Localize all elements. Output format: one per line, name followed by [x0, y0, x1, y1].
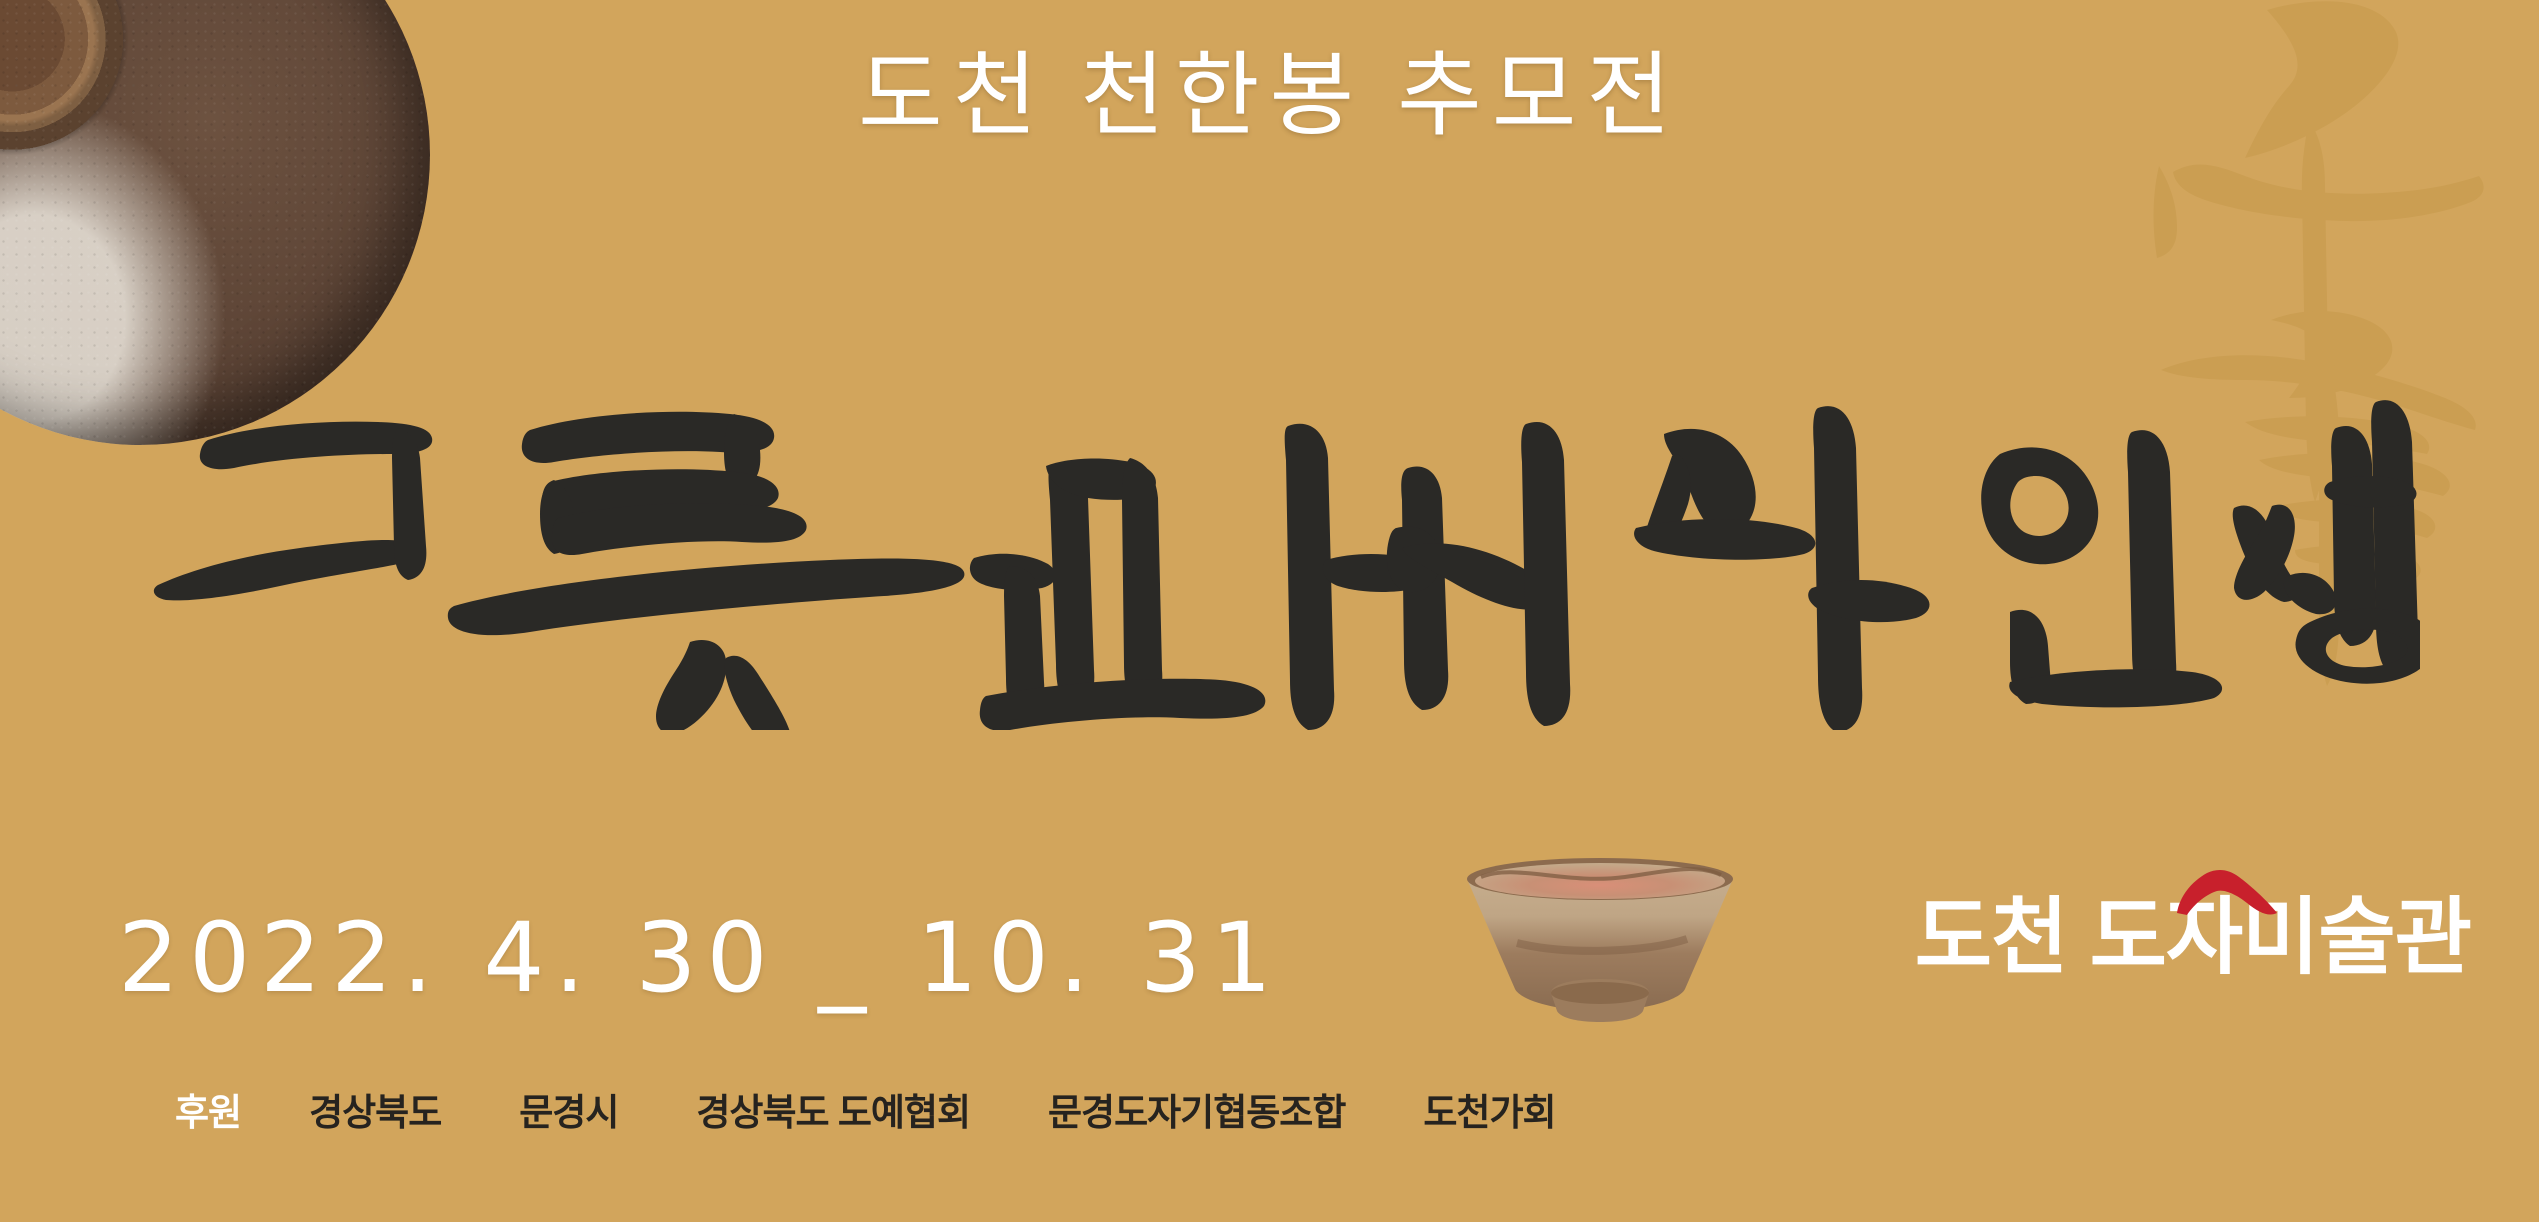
sponsor-item: 경상북도 도예협회 [696, 1082, 970, 1136]
sponsor-item: 문경도자기협동조합 [1048, 1082, 1345, 1136]
exhibition-poster: 도천 천한봉 추모전 그릇과 나의 인생 [0, 0, 2539, 1222]
sponsor-row: 후원 경상북도 문경시 경상북도 도예협회 문경도자기협동조합 도천가회 [175, 1082, 1556, 1136]
sponsor-item: 경상북도 [309, 1082, 441, 1136]
sponsor-label: 후원 [175, 1082, 241, 1136]
ceramic-tea-bowl-icon [1455, 843, 1745, 1028]
brush-calligraphy-title: 그릇과 나의 인생 [130, 370, 2420, 730]
sponsor-item: 문경시 [519, 1082, 618, 1136]
hanok-roof-icon [2173, 869, 2281, 917]
museum-logo[interactable]: 도천 도자미술관 [1915, 895, 2471, 979]
page-title: 도천 천한봉 추모전 [0, 44, 2539, 150]
brush-strokes [130, 370, 2420, 730]
sponsor-item: 도천가회 [1423, 1082, 1555, 1136]
exhibition-dates: 2022. 4. 30 _ 10. 31 [118, 902, 1282, 1014]
